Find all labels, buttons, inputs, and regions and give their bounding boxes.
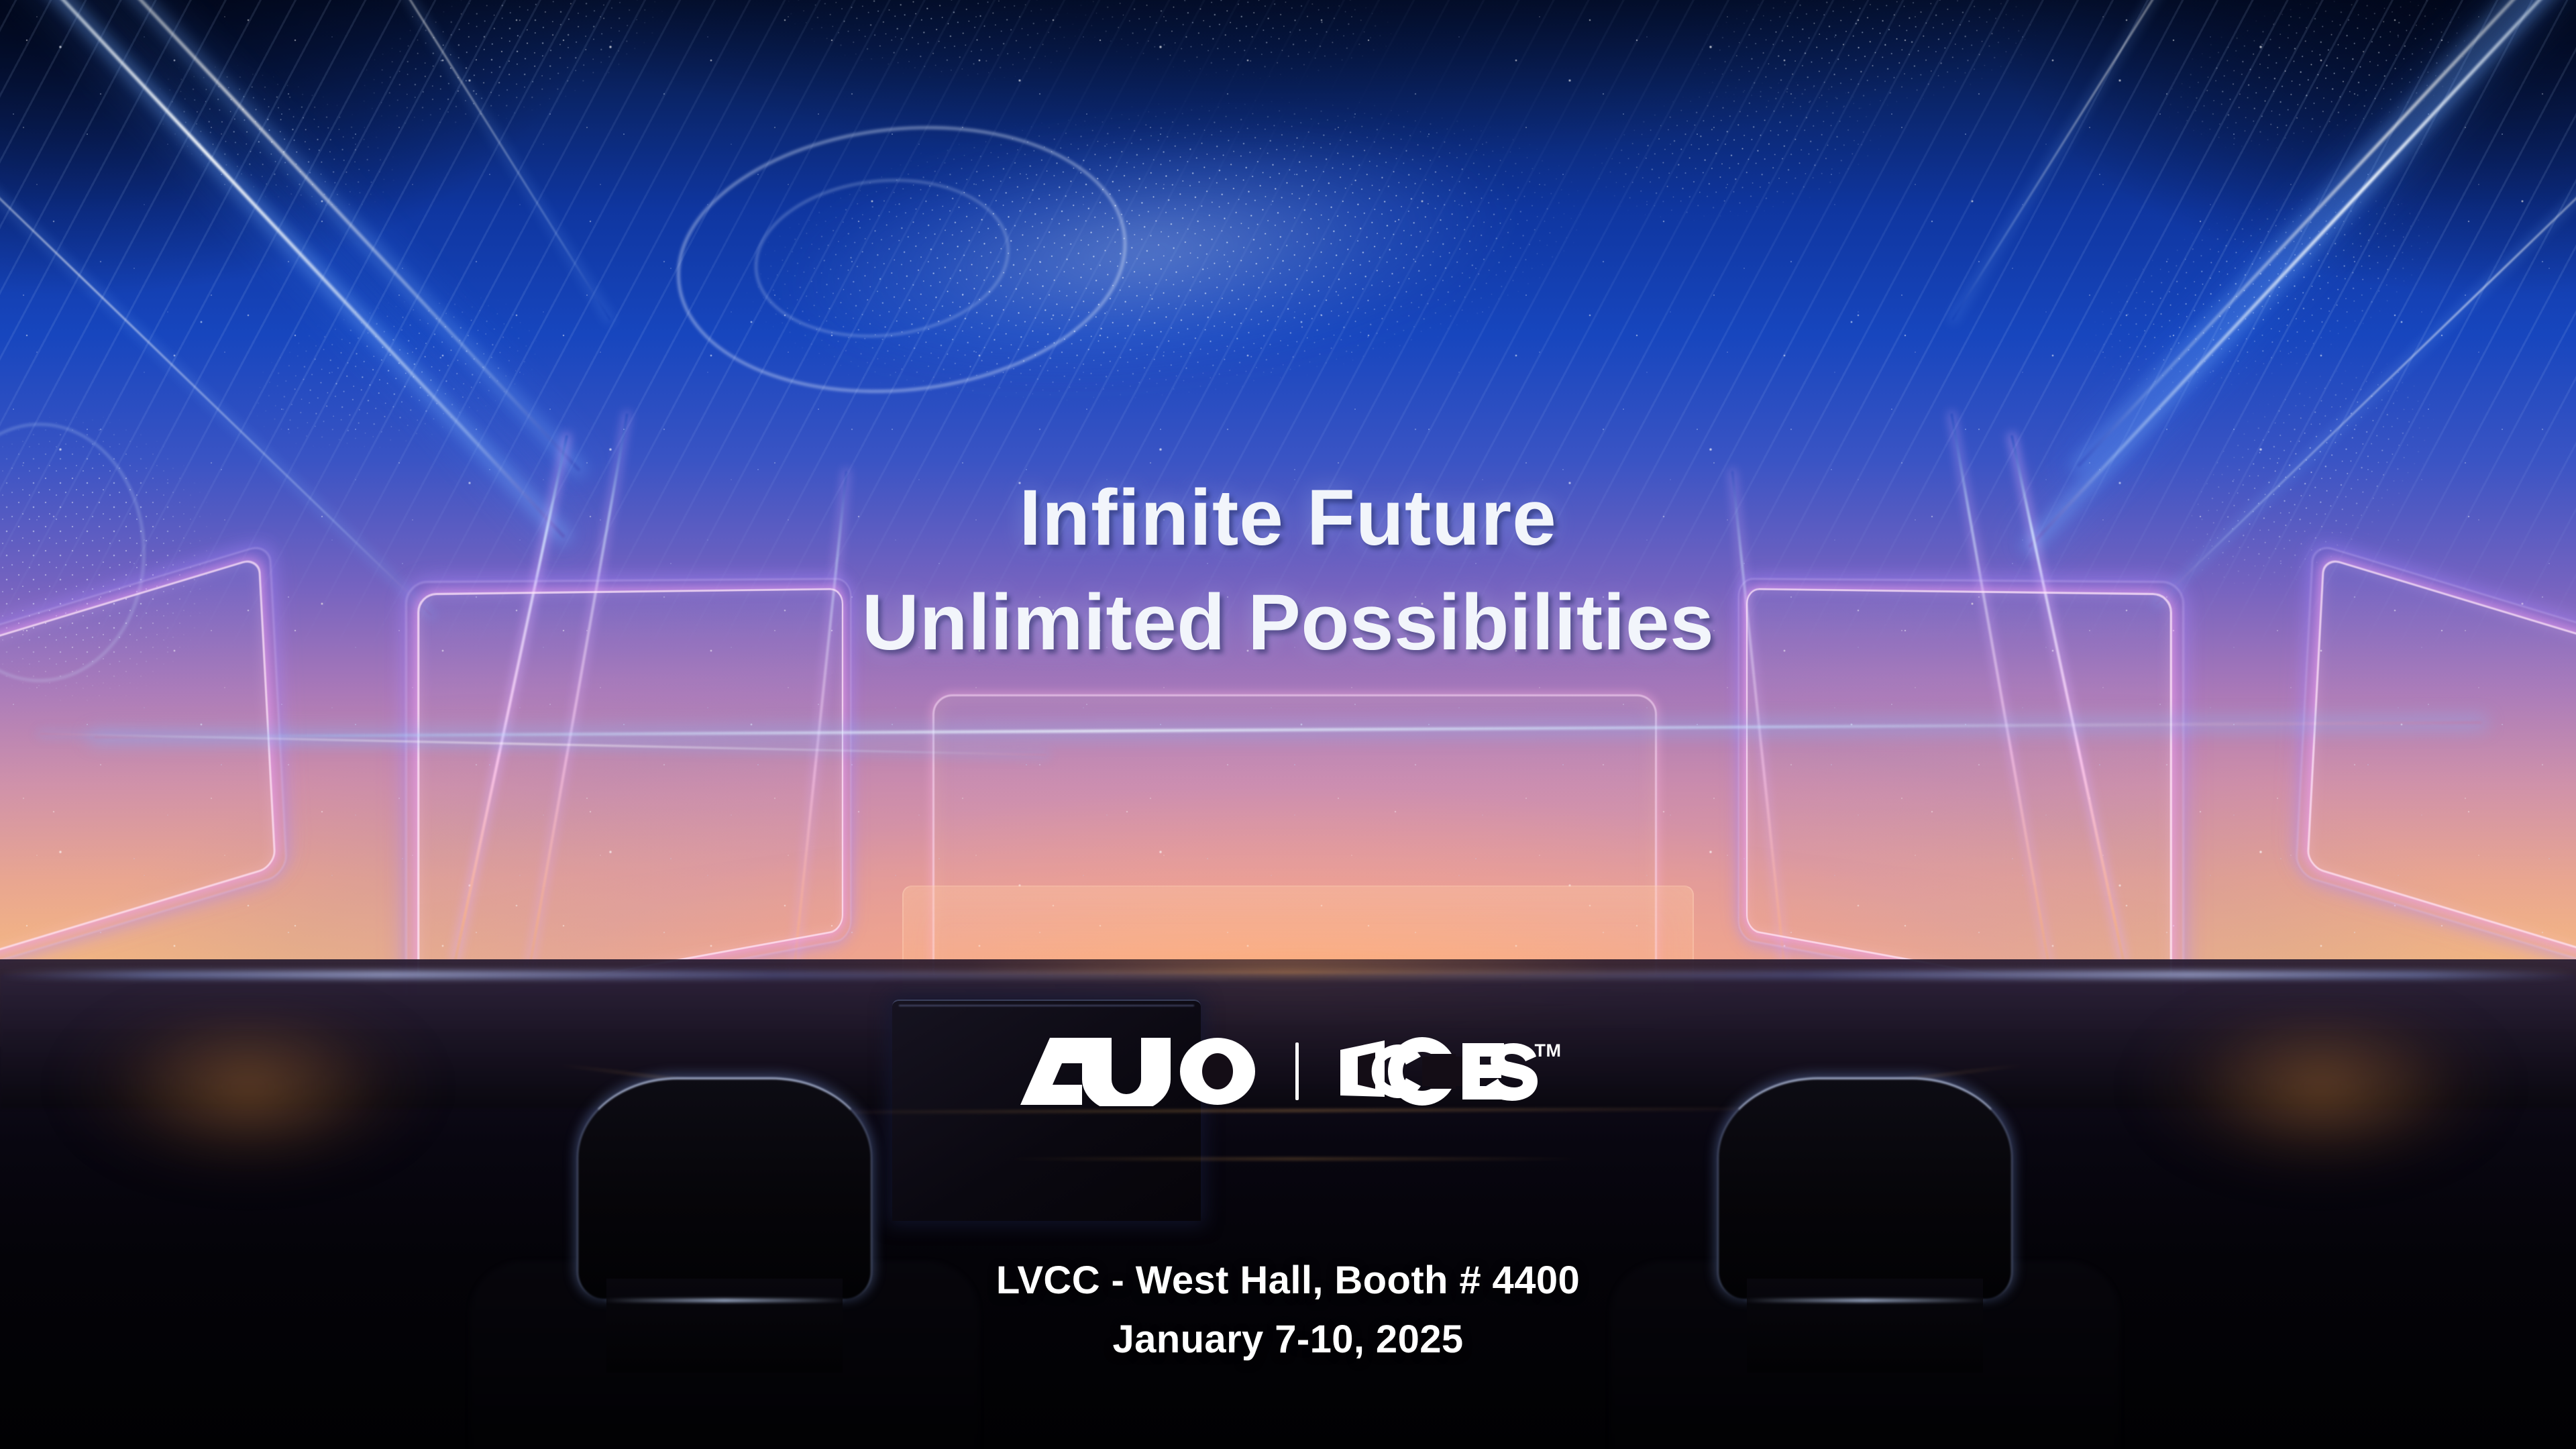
center-console-highlight (899, 1005, 1194, 1006)
passenger-seat-right (1717, 1077, 2012, 1299)
ces-key-visual: Infinite Future Unlimited Possibilities (0, 0, 2576, 1449)
passenger-seat-left (577, 1077, 872, 1299)
dashboard-body (0, 974, 2576, 1108)
dashboard-rim-light (0, 971, 2576, 978)
center-console-screen (892, 1000, 1201, 1221)
